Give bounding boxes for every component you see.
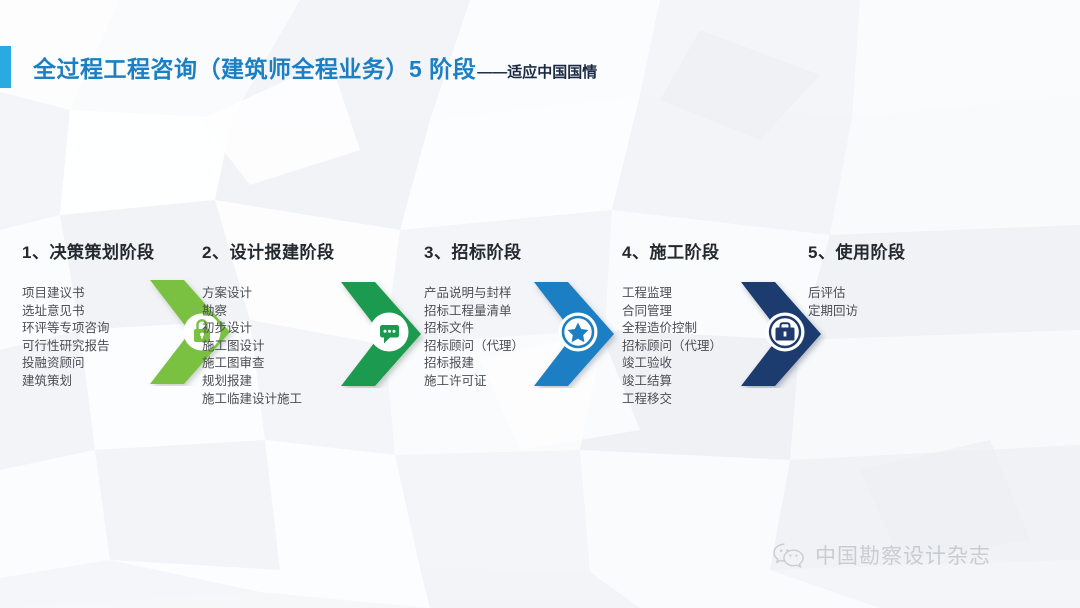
stage-2-list: 方案设计 勘察 初步设计 施工图设计 施工图审查 规划报建 施工临建设计施工: [202, 285, 334, 408]
list-item: 招标工程量清单: [424, 303, 524, 321]
list-item: 竣工验收: [622, 355, 722, 373]
slide-canvas: 全过程工程咨询（建筑师全程业务）5 阶段 ——适应中国国情 1、决策策划阶段 项…: [0, 0, 1080, 608]
chevron-2: [335, 280, 427, 388]
title-accent-bar: [0, 46, 11, 88]
list-item: 施工许可证: [424, 373, 524, 391]
list-item: 全程造价控制: [622, 320, 722, 338]
list-item: 产品说明与封样: [424, 285, 524, 303]
list-item: 环评等专项咨询: [22, 320, 154, 338]
watermark: 中国勘察设计杂志: [772, 540, 991, 570]
stage-1-list: 项目建议书 选址意见书 环评等专项咨询 可行性研究报告 投融资顾问 建筑策划: [22, 285, 154, 391]
page-title: 全过程工程咨询（建筑师全程业务）5 阶段 ——适应中国国情: [0, 46, 597, 88]
list-item: 招标顾问（代理）: [622, 338, 722, 356]
list-item: 项目建议书: [22, 285, 154, 303]
stage-3-list: 产品说明与封样 招标工程量清单 招标文件 招标顾问（代理） 招标报建 施工许可证: [424, 285, 524, 391]
stage-2: 2、设计报建阶段 方案设计 勘察 初步设计 施工图设计 施工图审查 规划报建 施…: [202, 238, 334, 408]
list-item: 施工图审查: [202, 355, 334, 373]
list-item: 可行性研究报告: [22, 338, 154, 356]
stage-4-heading: 4、施工阶段: [622, 238, 722, 263]
title-main-text: 全过程工程咨询（建筑师全程业务）5 阶段: [33, 50, 476, 84]
stage-5: 5、使用阶段 后评估 定期回访: [808, 238, 905, 320]
list-item: 合同管理: [622, 303, 722, 321]
stage-3-heading: 3、招标阶段: [424, 238, 524, 263]
list-item: 投融资顾问: [22, 355, 154, 373]
list-item: 工程监理: [622, 285, 722, 303]
list-item: 方案设计: [202, 285, 334, 303]
list-item: 定期回访: [808, 303, 905, 321]
stage-2-heading: 2、设计报建阶段: [202, 238, 334, 263]
list-item: 选址意见书: [22, 303, 154, 321]
list-item: 施工图设计: [202, 338, 334, 356]
stage-4: 4、施工阶段 工程监理 合同管理 全程造价控制 招标顾问（代理） 竣工验收 竣工…: [622, 238, 722, 408]
list-item: 工程移交: [622, 391, 722, 409]
title-subtitle-text: ——适应中国国情: [477, 61, 597, 82]
stage-3: 3、招标阶段 产品说明与封样 招标工程量清单 招标文件 招标顾问（代理） 招标报…: [424, 238, 524, 391]
stage-5-list: 后评估 定期回访: [808, 285, 905, 320]
list-item: 招标报建: [424, 355, 524, 373]
wechat-icon: [772, 542, 806, 569]
list-item: 招标顾问（代理）: [424, 338, 524, 356]
list-item: 竣工结算: [622, 373, 722, 391]
stage-1-heading: 1、决策策划阶段: [22, 238, 154, 263]
title-text-wrap: 全过程工程咨询（建筑师全程业务）5 阶段 ——适应中国国情: [33, 50, 597, 84]
list-item: 勘察: [202, 303, 334, 321]
list-item: 建筑策划: [22, 373, 154, 391]
list-item: 施工临建设计施工: [202, 391, 334, 409]
watermark-text: 中国勘察设计杂志: [815, 540, 991, 570]
chevron-3: [528, 280, 620, 388]
stage-5-heading: 5、使用阶段: [808, 238, 905, 263]
list-item: 招标文件: [424, 320, 524, 338]
list-item: 初步设计: [202, 320, 334, 338]
list-item: 规划报建: [202, 373, 334, 391]
list-item: 后评估: [808, 285, 905, 303]
stage-4-list: 工程监理 合同管理 全程造价控制 招标顾问（代理） 竣工验收 竣工结算 工程移交: [622, 285, 722, 408]
stage-1: 1、决策策划阶段 项目建议书 选址意见书 环评等专项咨询 可行性研究报告 投融资…: [22, 238, 154, 391]
